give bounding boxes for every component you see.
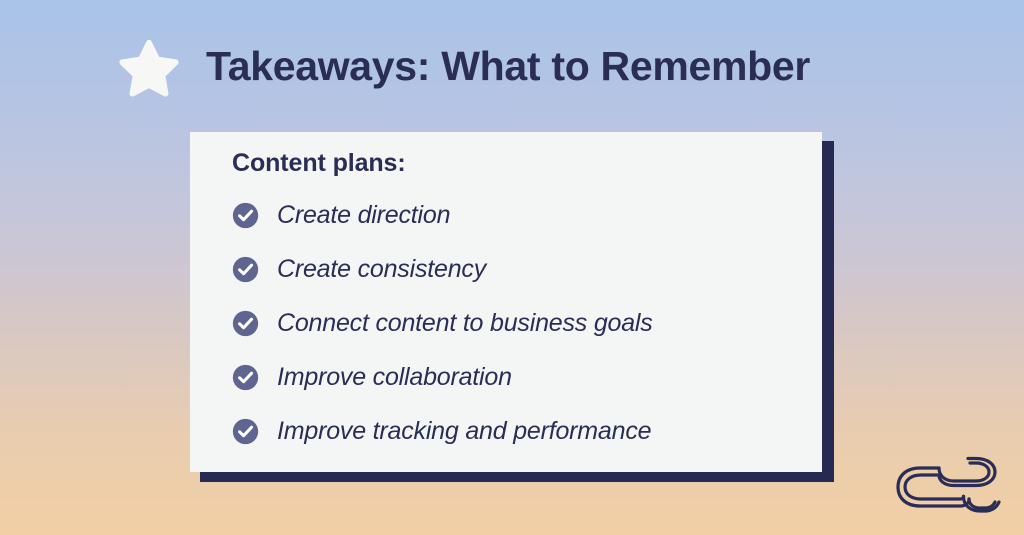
takeaways-checklist: Create direction Create consistency Conn… bbox=[232, 188, 822, 458]
list-item: Improve collaboration bbox=[232, 350, 822, 404]
page-title: Takeaways: What to Remember bbox=[206, 46, 810, 87]
slide-header: Takeaways: What to Remember bbox=[0, 0, 1024, 132]
check-circle-icon bbox=[232, 310, 259, 337]
card-surface: Content plans: Create direction Create c… bbox=[190, 132, 822, 472]
list-item: Create consistency bbox=[232, 242, 822, 296]
check-circle-icon bbox=[232, 418, 259, 445]
slide-canvas: Takeaways: What to Remember Content plan… bbox=[0, 0, 1024, 535]
check-circle-icon bbox=[232, 364, 259, 391]
list-item-label: Create consistency bbox=[277, 257, 486, 282]
list-item: Connect content to business goals bbox=[232, 296, 822, 350]
check-circle-icon bbox=[232, 202, 259, 229]
list-item-label: Create direction bbox=[277, 203, 450, 228]
list-item-label: Connect content to business goals bbox=[277, 311, 653, 336]
card-heading: Content plans: bbox=[232, 151, 822, 176]
check-circle-icon bbox=[232, 256, 259, 283]
cs-monogram-logo bbox=[892, 453, 1008, 527]
star-icon bbox=[118, 36, 180, 98]
list-item: Improve tracking and performance bbox=[232, 404, 822, 458]
list-item-label: Improve tracking and performance bbox=[277, 419, 651, 444]
list-item: Create direction bbox=[232, 188, 822, 242]
list-item-label: Improve collaboration bbox=[277, 365, 512, 390]
takeaways-card: Content plans: Create direction Create c… bbox=[190, 132, 834, 482]
